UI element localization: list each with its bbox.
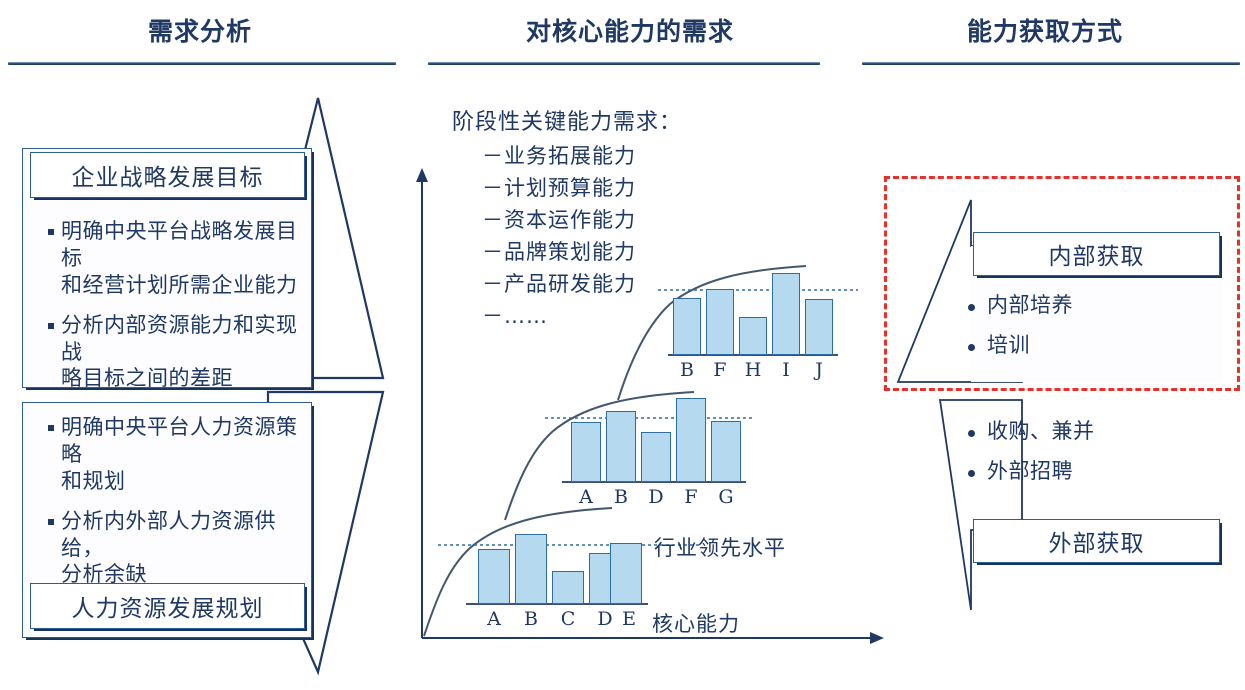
bar-label-bottom-2: C [552, 608, 584, 630]
square-bullet-icon [48, 323, 54, 329]
bar-middle-4 [711, 421, 741, 482]
strategy-goal-title-bar: 企业战略发展目标 [30, 152, 305, 198]
strategy-goal-title: 企业战略发展目标 [72, 158, 264, 192]
header-rule-middle [428, 62, 820, 65]
bullet-text: 内部培养 [987, 292, 1073, 319]
phase-capability-item-4: －产品研发能力 [482, 268, 636, 298]
bar-top-1 [706, 289, 734, 355]
page-title-capability-acquisition: 能力获取方式 [880, 12, 1210, 48]
hr-plan-title-bar: 人力资源发展规划 [30, 583, 305, 629]
bar-label-bottom-4: E [613, 608, 645, 630]
hr-plan-title: 人力资源发展规划 [72, 589, 264, 623]
bar-label-middle-0: A [571, 486, 601, 508]
bar-bottom-1 [515, 534, 547, 604]
benchmark-line-label: 行业领先水平 [654, 532, 786, 562]
internal-acquisition-title-bar: 内部获取 [973, 232, 1220, 276]
bar-label-top-2: H [739, 359, 767, 381]
bullet-text: 分析内外部人力资源供给， 分析余缺 [61, 508, 308, 589]
bullet-text: 收购、兼并 [987, 418, 1095, 445]
external-acquisition-bullets: 收购、兼并 外部招聘 [968, 418, 1208, 498]
bullet-text: 外部招聘 [987, 458, 1073, 485]
phase-capability-heading: 阶段性关键能力需求： [452, 104, 682, 136]
list-item: 分析内外部人力资源供给， 分析余缺 [48, 508, 308, 589]
bar-label-bottom-0: A [478, 608, 510, 630]
internal-acquisition-title: 内部获取 [1049, 237, 1145, 271]
bar-bottom-2 [552, 571, 584, 604]
internal-acquisition-bullets: 内部培养 培训 [968, 292, 1208, 372]
bullet-text: 明确中央平台战略发展目标 和经营计划所需企业能力 [61, 218, 308, 299]
bar-label-top-0: B [673, 359, 701, 381]
phase-capability-item-0: －业务拓展能力 [482, 140, 636, 170]
bar-label-middle-3: F [676, 486, 706, 508]
external-acquisition-title: 外部获取 [1049, 524, 1145, 558]
square-bullet-icon [48, 229, 54, 235]
list-item: 明确中央平台人力资源策略 和规划 [48, 414, 308, 495]
bar-label-middle-2: D [641, 486, 671, 508]
bar-label-middle-1: B [606, 486, 636, 508]
bar-label-middle-4: G [711, 486, 741, 508]
bar-label-top-1: F [706, 359, 734, 381]
list-item: 外部招聘 [968, 458, 1208, 485]
bar-top-3 [772, 273, 800, 355]
phase-capability-item-1: －计划预算能力 [482, 172, 636, 202]
phase-capability-item-5: －…… [482, 300, 548, 330]
bar-bottom-4 [610, 543, 642, 604]
page-title-demand-analysis: 需求分析 [60, 12, 340, 48]
strategy-goal-bullets: 明确中央平台战略发展目标 和经营计划所需企业能力 分析内部资源能力和实现战 略目… [48, 218, 308, 405]
list-item: 分析内部资源能力和实现战 略目标之间的差距 [48, 312, 308, 393]
list-item: 内部培养 [968, 292, 1208, 319]
list-item: 培训 [968, 332, 1208, 359]
header-rule-left [8, 62, 396, 65]
x-axis-label: 核心能力 [652, 608, 740, 638]
round-bullet-icon [968, 470, 975, 477]
bar-top-4 [805, 299, 833, 355]
bar-label-top-4: J [805, 359, 833, 381]
bar-label-bottom-1: B [515, 608, 547, 630]
external-acquisition-title-bar: 外部获取 [973, 519, 1220, 563]
round-bullet-icon [968, 344, 975, 351]
bullet-text: 分析内部资源能力和实现战 略目标之间的差距 [61, 312, 308, 393]
round-bullet-icon [968, 430, 975, 437]
bar-middle-1 [606, 411, 636, 482]
bullet-text: 培训 [987, 332, 1030, 359]
hr-plan-bullets: 明确中央平台人力资源策略 和规划 分析内外部人力资源供给， 分析余缺 [48, 414, 308, 601]
list-item: 收购、兼并 [968, 418, 1208, 445]
phase-capability-item-3: －品牌策划能力 [482, 236, 636, 266]
list-item: 明确中央平台战略发展目标 和经营计划所需企业能力 [48, 218, 308, 299]
page-title-core-capability-demand: 对核心能力的需求 [440, 12, 820, 48]
bar-bottom-0 [478, 549, 510, 604]
bullet-text: 明确中央平台人力资源策略 和规划 [61, 414, 308, 495]
phase-capability-item-2: －资本运作能力 [482, 204, 636, 234]
bar-label-top-3: I [772, 359, 800, 381]
bar-middle-2 [641, 432, 671, 482]
bar-middle-3 [676, 398, 706, 482]
square-bullet-icon [48, 519, 54, 525]
bar-top-2 [739, 317, 767, 355]
round-bullet-icon [968, 304, 975, 311]
bar-middle-0 [571, 422, 601, 482]
header-rule-right [862, 62, 1240, 65]
bar-top-0 [673, 298, 701, 355]
square-bullet-icon [48, 425, 54, 431]
slide-canvas: 需求分析 对核心能力的需求 能力获取方式 企业战略发展目标 明确中央平台战略发展… [0, 0, 1245, 690]
